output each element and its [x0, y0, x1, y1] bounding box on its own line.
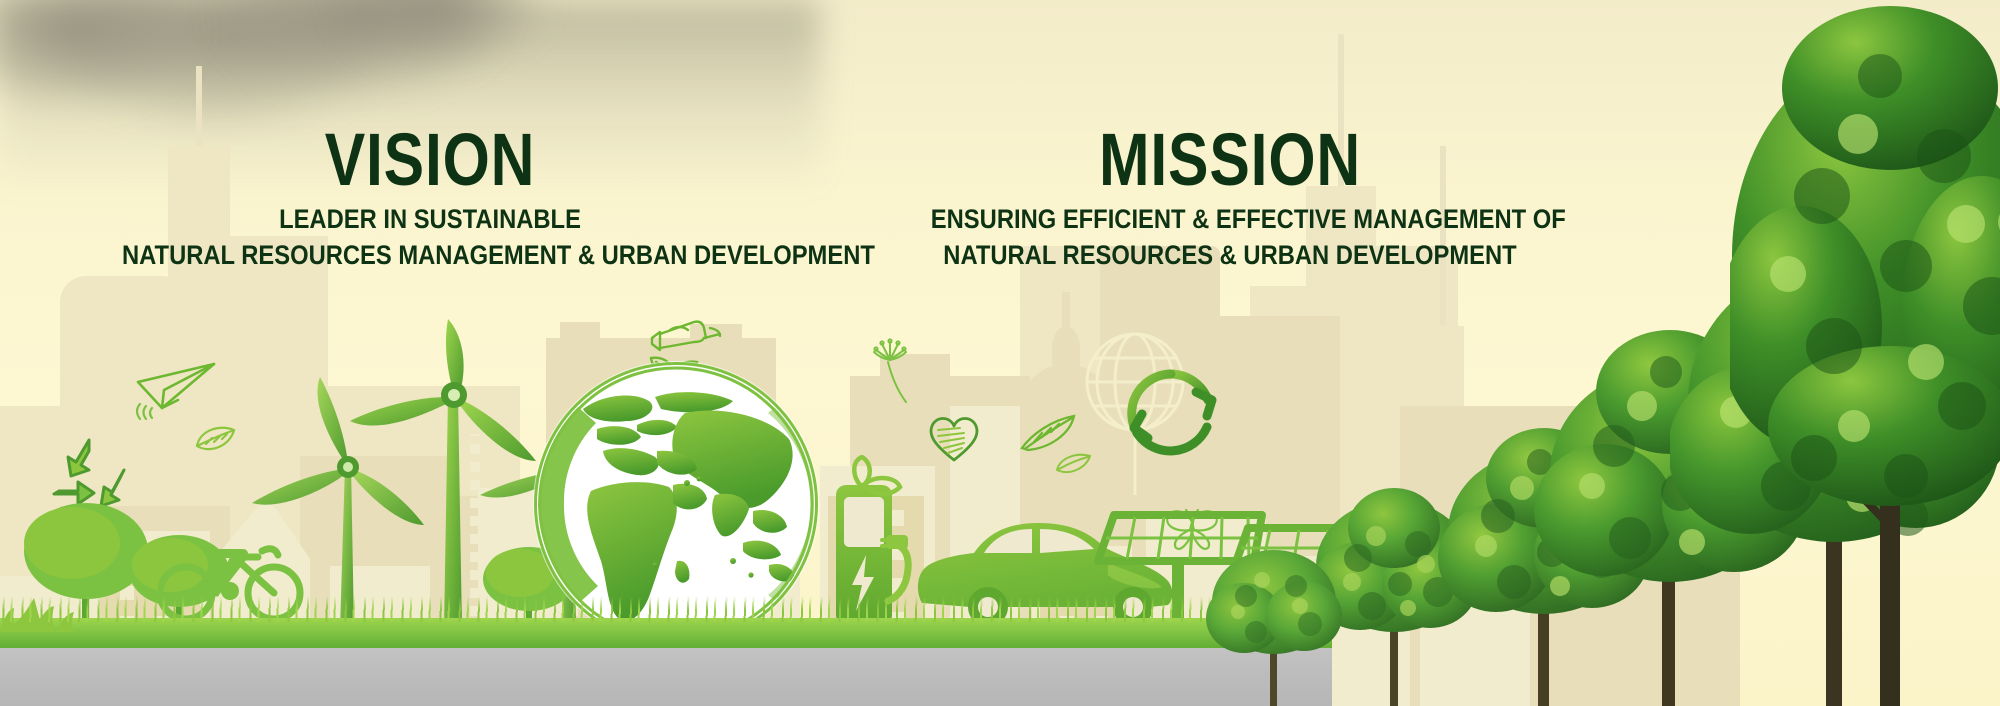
leaf-icon — [1054, 450, 1094, 478]
tree-icon — [1730, 6, 2000, 706]
grass-tufts — [0, 596, 1332, 622]
mission-subtitle-line1: ENSURING EFFICIENT & EFFECTIVE MANAGEMEN… — [931, 202, 1529, 236]
vision-subtitle-line1: LEADER IN SUSTAINABLE — [122, 202, 738, 236]
mission-block: MISSION ENSURING EFFICIENT & EFFECTIVE M… — [890, 126, 1570, 272]
leaf-icon — [194, 424, 238, 454]
grass-icon — [0, 618, 1332, 648]
mission-title: MISSION — [951, 126, 1509, 194]
dandelion-icon — [870, 340, 916, 404]
leaf-pair-icon — [1018, 408, 1078, 452]
vision-block: VISION LEADER IN SUSTAINABLE NATURAL RES… — [80, 126, 780, 272]
mission-subtitle-line2: NATURAL RESOURCES & URBAN DEVELOPMENT — [931, 238, 1529, 272]
recycle-arrows-icon — [1122, 366, 1220, 462]
road-icon — [0, 644, 1332, 706]
vision-title: VISION — [143, 126, 717, 194]
vision-subtitle-line2: NATURAL RESOURCES MANAGEMENT & URBAN DEV… — [122, 238, 738, 272]
eco-vision-mission-banner: VISION LEADER IN SUSTAINABLE NATURAL RES… — [0, 0, 2000, 706]
paper-airplane-icon — [136, 360, 222, 420]
tree-icon — [1200, 526, 1350, 706]
